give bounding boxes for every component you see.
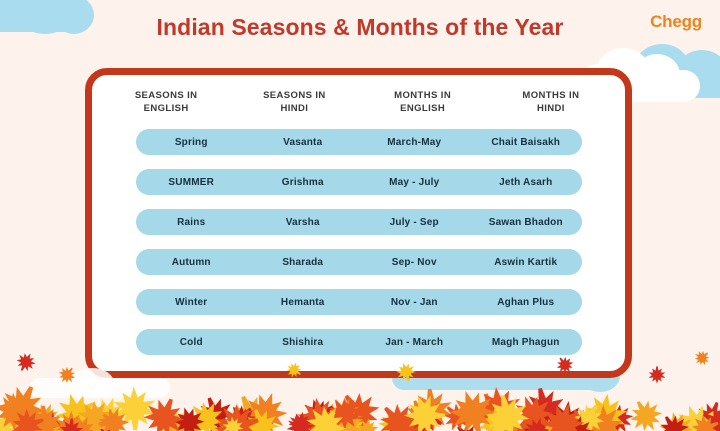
table-row: SUMMER Grishma May - July Jeth Asarh [136,169,582,195]
table-row: Spring Vasanta March-May Chait Baisakh [136,129,582,155]
maple-leaf-icon [27,402,62,431]
maple-leaf-icon [243,407,272,431]
maple-leaf-icon [225,404,256,431]
maple-leaf-icon [575,426,600,431]
cell-season-english: Cold [136,337,248,348]
maple-leaf-icon [566,408,595,431]
maple-leaf-icon [393,410,421,431]
maple-leaf-icon [403,394,446,431]
maple-leaf-icon [385,426,408,431]
maple-leaf-icon [286,413,315,431]
maple-leaf-icon [222,416,244,431]
table-row: Cold Shishira Jan - March Magh Phagun [136,329,582,355]
maple-leaf-icon [27,405,63,431]
maple-leaf-icon [254,422,276,431]
maple-leaf-icon [403,399,438,431]
maple-leaf-icon [690,414,720,431]
column-header-seasons-english: SEASONS IN ENGLISH [102,89,230,115]
maple-leaf-icon [87,407,111,431]
maple-leaf-icon [213,403,260,431]
column-header-line2: ENGLISH [359,102,487,115]
seasons-table-card: SEASONS IN ENGLISH SEASONS IN HINDI MONT… [85,68,632,378]
maple-leaf-icon [512,394,555,431]
maple-leaf-icon [98,407,130,431]
maple-leaf-icon [522,387,567,431]
maple-leaf-icon [44,419,77,431]
maple-leaf-icon [76,399,114,431]
maple-leaf-icon [243,408,280,431]
maple-leaf-icon [471,392,513,431]
column-header-line1: SEASONS IN [230,89,358,102]
cell-months-english: Nov - Jan [359,297,471,308]
maple-leaf-icon [396,362,416,382]
maple-leaf-icon [629,399,663,431]
maple-leaf-icon [443,402,473,431]
maple-leaf-icon [243,391,288,431]
maple-leaf-icon [66,415,97,431]
maple-leaf-icon [579,404,626,431]
cell-months-english: May - July [359,177,471,188]
maple-leaf-icon [659,411,694,431]
maple-leaf-icon [0,419,15,431]
maple-leaf-icon [219,416,252,431]
maple-leaf-icon [58,366,76,384]
maple-leaf-icon [541,402,585,431]
maple-leaf-icon [247,402,278,431]
column-header-line2: HINDI [230,102,358,115]
column-header-line1: SEASONS IN [102,89,230,102]
maple-leaf-icon [408,398,444,431]
maple-leaf-icon [544,400,588,431]
maple-leaf-icon [487,411,514,431]
cloud-top-right-blue-icon [630,42,720,100]
maple-leaf-icon [228,394,275,431]
maple-leaf-icon [658,414,690,431]
maple-leaf-icon [700,404,720,431]
maple-leaf-icon [524,419,549,431]
maple-leaf-icon [324,423,349,431]
column-header-line1: MONTHS IN [359,89,487,102]
maple-leaf-icon [327,396,362,431]
maple-leaf-icon [582,393,629,431]
maple-leaf-icon [511,420,537,431]
maple-leaf-icon [16,352,36,372]
column-header-line1: MONTHS IN [487,89,615,102]
maple-leaf-icon [378,402,419,431]
maple-leaf-icon [449,389,496,431]
seasons-table: SEASONS IN ENGLISH SEASONS IN HINDI MONT… [92,75,625,371]
cell-season-hindi: Varsha [247,217,359,228]
maple-leaf-icon [14,405,49,431]
cell-season-hindi: Vasanta [247,137,359,148]
maple-leaf-icon [168,412,198,431]
cell-season-hindi: Shishira [247,337,359,348]
maple-leaf-icon [214,417,238,431]
maple-leaf-icon [84,416,106,431]
column-header-months-english: MONTHS IN ENGLISH [359,89,487,115]
cell-season-hindi: Sharada [247,257,359,268]
maple-leaf-icon [603,407,631,431]
maple-leaf-icon [476,386,524,431]
maple-leaf-icon [694,350,710,366]
maple-leaf-icon [0,396,38,431]
cell-months-hindi: Chait Baisakh [470,137,582,148]
maple-leaf-icon [543,416,575,431]
maple-leaf-icon [536,410,564,431]
maple-leaf-icon [173,406,205,431]
column-header-seasons-hindi: SEASONS IN HINDI [230,89,358,115]
maple-leaf-icon [46,415,81,431]
maple-leaf-icon [0,392,33,431]
maple-leaf-icon [0,384,46,431]
cell-months-english: July - Sep [359,217,471,228]
maple-leaf-icon [143,397,185,431]
cell-months-hindi: Aswin Kartik [470,257,582,268]
cell-season-english: Autumn [136,257,248,268]
cell-season-english: Rains [136,217,248,228]
maple-leaf-icon [326,402,374,431]
maple-leaf-icon [178,419,201,431]
maple-leaf-icon [322,397,366,431]
maple-leaf-icon [39,411,63,431]
maple-leaf-icon [93,415,117,431]
maple-leaf-icon [158,407,189,431]
cell-season-hindi: Grishma [247,177,359,188]
cell-months-hindi: Aghan Plus [470,297,582,308]
maple-leaf-icon [55,410,87,431]
maple-leaf-icon [409,388,454,431]
maple-leaf-icon [0,412,17,431]
page-title: Indian Seasons & Months of the Year [0,14,720,41]
maple-leaf-icon [321,404,367,431]
maple-leaf-icon [527,425,552,431]
maple-leaf-icon [602,403,634,431]
maple-leaf-icon [648,366,666,384]
cell-months-english: Sep- Nov [359,257,471,268]
maple-leaf-icon [566,416,595,431]
cell-season-english: Spring [136,137,248,148]
maple-leaf-icon [356,418,379,431]
maple-leaf-icon [296,397,341,431]
maple-leaf-icon [245,422,276,431]
maple-leaf-icon [496,415,528,431]
cell-months-english: March-May [359,137,471,148]
autumn-leaves-border [0,369,720,431]
column-header-line2: ENGLISH [102,102,230,115]
maple-leaf-icon [112,386,157,431]
table-row: Winter Hemanta Nov - Jan Aghan Plus [136,289,582,315]
maple-leaf-icon [232,407,258,431]
maple-leaf-icon [288,411,313,431]
cell-season-english: Winter [136,297,248,308]
table-row: Autumn Sharada Sep- Nov Aswin Kartik [136,249,582,275]
maple-leaf-icon [378,411,405,431]
cell-season-english: SUMMER [136,177,248,188]
cell-months-hindi: Jeth Asarh [470,177,582,188]
maple-leaf-icon [485,406,513,431]
maple-leaf-icon [535,404,569,431]
maple-leaf-icon [565,418,593,431]
infographic-canvas: Indian Seasons & Months of the Year Cheg… [0,0,720,431]
cell-season-hindi: Hemanta [247,297,359,308]
table-row: Rains Varsha July - Sep Sawan Bhadon [136,209,582,235]
maple-leaf-icon [313,401,351,431]
maple-leaf-icon [523,417,551,431]
maple-leaf-icon [485,394,530,431]
maple-leaf-icon [477,405,514,431]
maple-leaf-icon [559,415,596,431]
column-header-line2: HINDI [487,102,615,115]
table-header-row: SEASONS IN ENGLISH SEASONS IN HINDI MONT… [102,89,615,129]
maple-leaf-icon [300,398,336,431]
maple-leaf-icon [54,392,101,431]
maple-leaf-icon [98,409,124,431]
maple-leaf-icon [58,418,84,431]
maple-leaf-icon [196,396,235,431]
maple-leaf-icon [695,401,720,431]
maple-leaf-icon [573,403,605,431]
maple-leaf-icon [286,362,302,378]
maple-leaf-icon [391,407,437,431]
maple-leaf-icon [6,402,42,431]
cell-months-hindi: Magh Phagun [470,337,582,348]
cell-months-hindi: Sawan Bhadon [470,217,582,228]
cell-months-english: Jan - March [359,337,471,348]
maple-leaf-icon [186,400,225,431]
maple-leaf-icon [537,417,561,431]
maple-leaf-icon [336,391,381,431]
maple-leaf-icon [25,425,52,431]
maple-leaf-icon [23,416,47,431]
chegg-logo: Chegg [650,12,702,32]
maple-leaf-icon [453,423,481,431]
maple-leaf-icon [86,396,127,431]
maple-leaf-icon [10,408,45,431]
maple-leaf-icon [556,356,574,374]
column-header-months-hindi: MONTHS IN HINDI [487,89,615,115]
maple-leaf-icon [305,404,347,431]
maple-leaf-icon [342,415,367,431]
maple-leaf-icon [674,403,720,431]
